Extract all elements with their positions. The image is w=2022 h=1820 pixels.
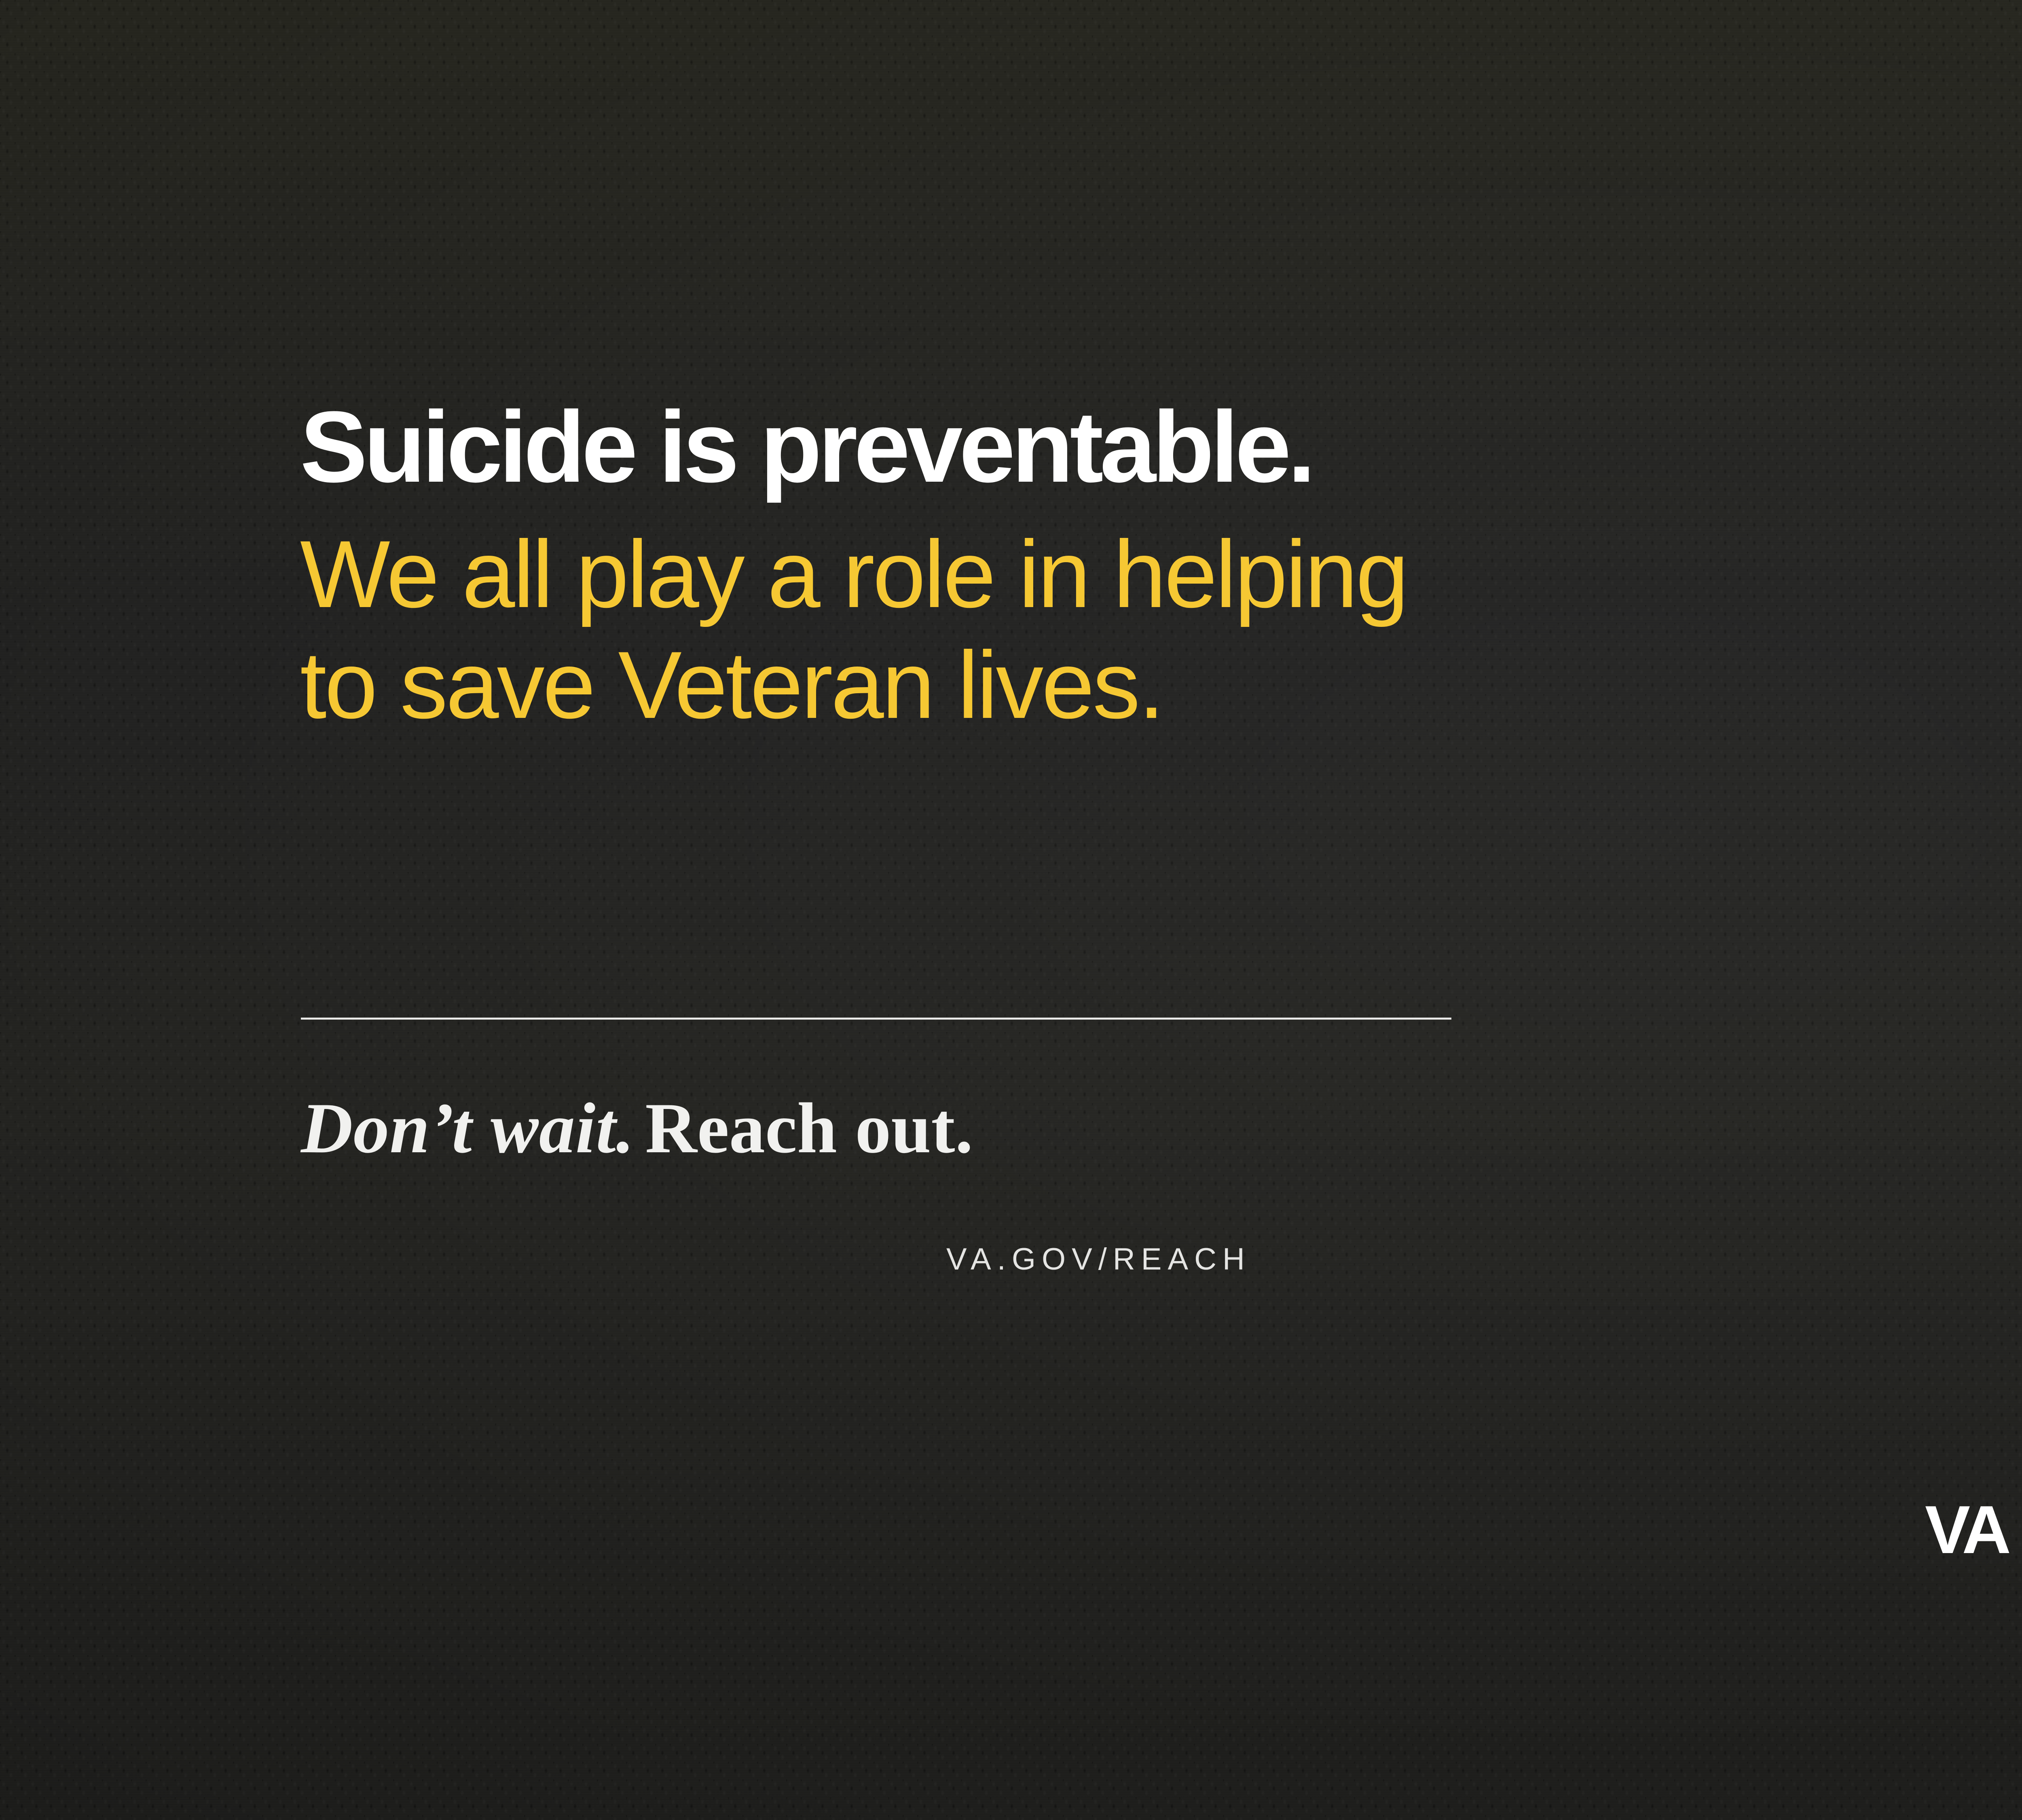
headline-secondary-line-2: to save Veteran lives. bbox=[300, 630, 2022, 741]
headline-block: Suicide is preventable. We all play a ro… bbox=[300, 396, 2022, 741]
tagline-bold: Reach out. bbox=[645, 1088, 973, 1168]
va-logo-lockup: VA bbox=[1925, 1472, 2022, 1650]
psa-poster: Suicide is preventable. We all play a ro… bbox=[0, 0, 2022, 1820]
va-monogram: VA bbox=[1925, 1496, 2008, 1564]
headline-primary: Suicide is preventable. bbox=[300, 396, 2022, 497]
campaign-url[interactable]: VA.GOV/REACH bbox=[946, 1242, 1251, 1277]
headline-secondary-line-1: We all play a role in helping bbox=[300, 519, 2022, 630]
tagline-italic: Don’t wait. bbox=[301, 1088, 635, 1168]
tagline: Don’t wait.Reach out. bbox=[301, 1092, 973, 1164]
horizontal-divider bbox=[301, 1018, 1451, 1020]
